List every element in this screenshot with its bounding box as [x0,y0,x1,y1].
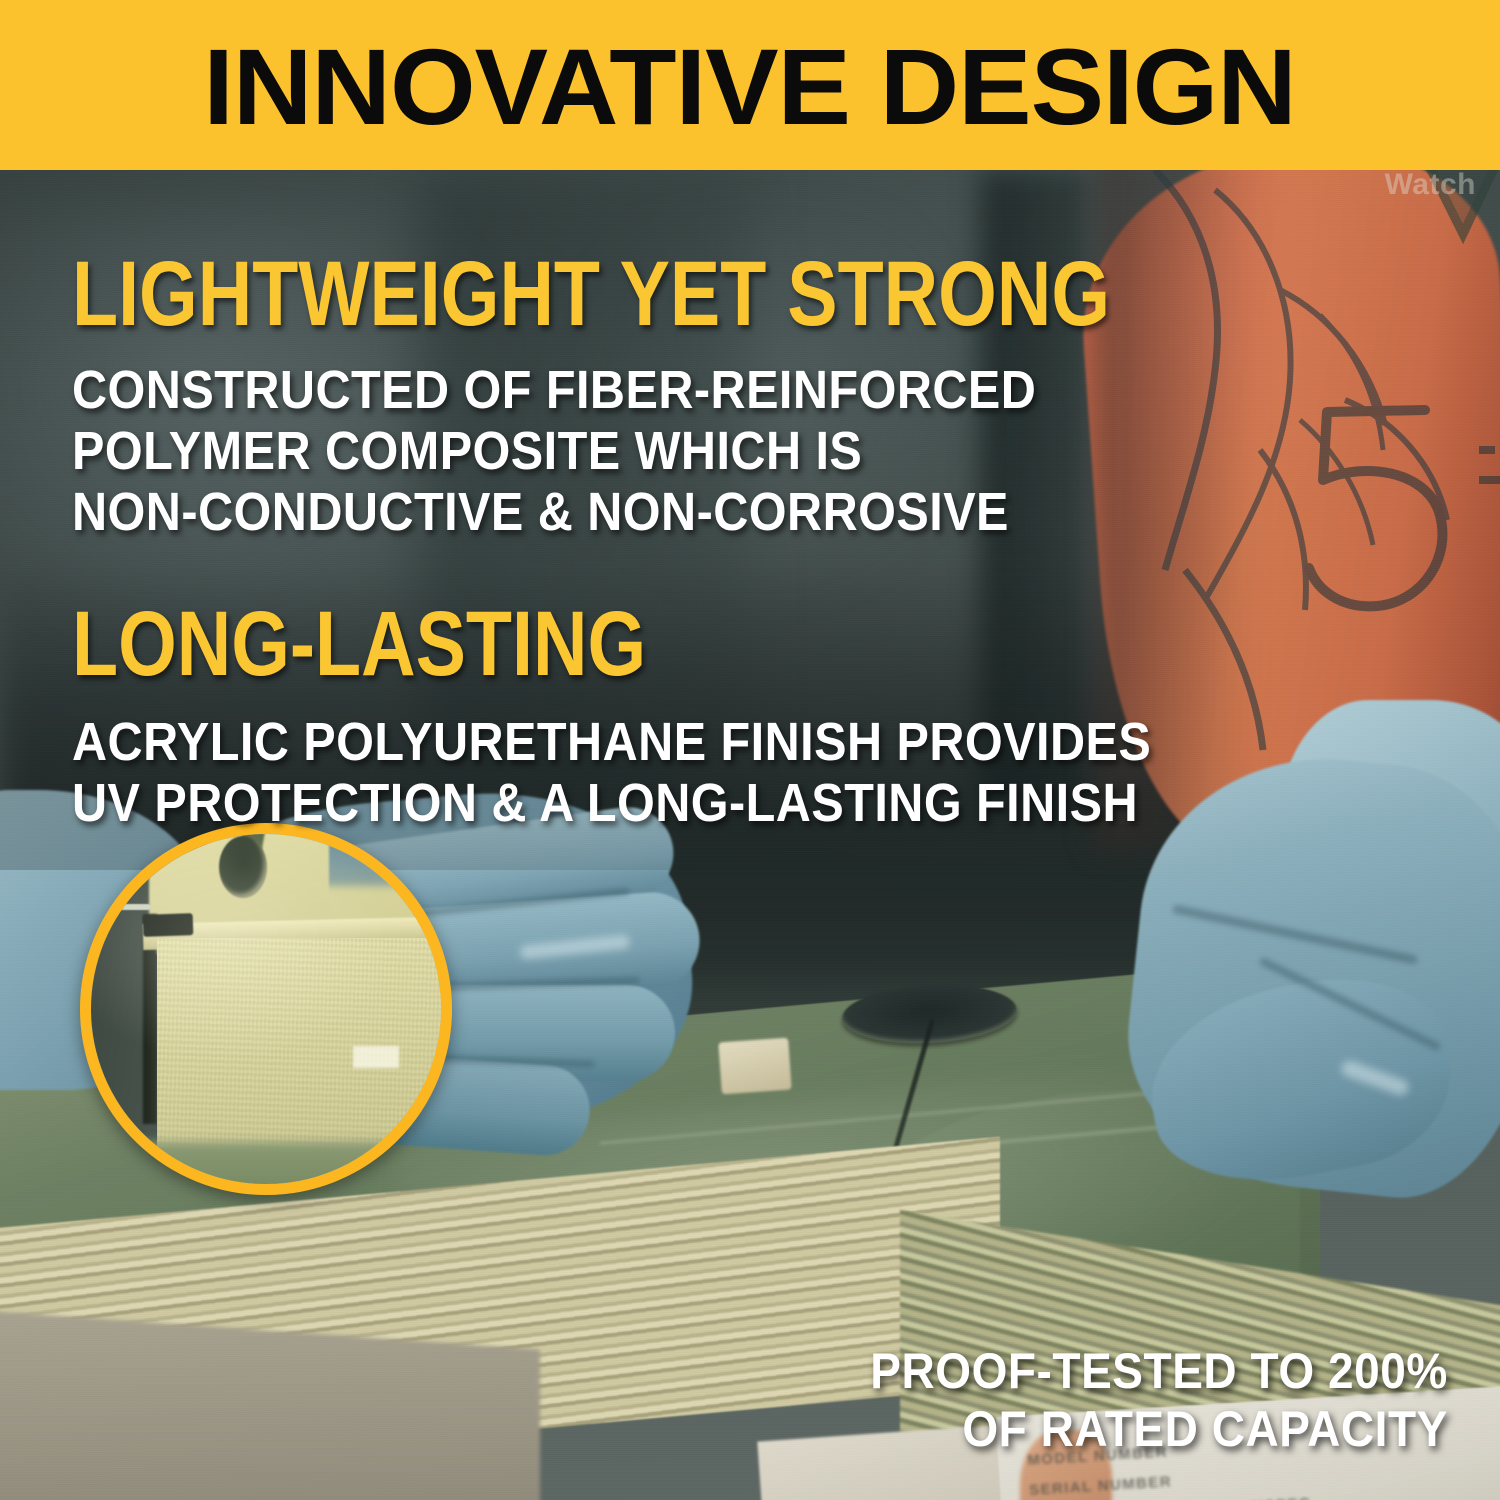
magnifier-sticker [353,1046,399,1068]
feature-body-1: CONSTRUCTED OF FIBER-REINFORCED POLYMER … [72,360,1211,543]
magnifier-rod [105,904,151,910]
feature-body-1-line-1: CONSTRUCTED OF FIBER-REINFORCED [72,360,1211,421]
feature-section-long-lasting: LONG-LASTING ACRYLIC POLYURETHANE FINISH… [72,600,1271,834]
page-title: INNOVATIVE DESIGN [204,29,1297,141]
header-band: INNOVATIVE DESIGN [0,0,1500,170]
feature-body-1-line-3: NON-CONDUCTIVE & NON-CORROSIVE [72,482,1211,543]
feature-body-2-line-1: ACRYLIC POLYURETHANE FINISH PROVIDES [72,712,1151,773]
feature-section-lightweight: LIGHTWEIGHT YET STRONG CONSTRUCTED OF FI… [72,250,1338,543]
cream-offcut-center [718,1038,791,1095]
proof-tested-line-2: OF RATED CAPACITY [870,1400,1448,1458]
feature-body-1-line-2: POLYMER COMPOSITE WHICH IS [72,421,1211,482]
infographic-canvas: MODEL NUMBER SERIAL NUMBER CHANNEL PREPA… [0,0,1500,1500]
magnifier-callout [80,823,452,1195]
feature-heading-1: LIGHTWEIGHT YET STRONG [72,250,1110,338]
proof-tested-line-1: PROOF-TESTED TO 200% [870,1342,1448,1400]
magnifier-bracket [143,913,194,937]
feature-body-2: ACRYLIC POLYURETHANE FINISH PROVIDES UV … [72,712,1151,834]
feature-heading-2: LONG-LASTING [72,600,1055,688]
magnifier-content [91,834,441,1184]
proof-tested-callout: PROOF-TESTED TO 200% OF RATED CAPACITY [820,1342,1448,1458]
magnifier-hole [219,836,267,898]
feature-body-2-line-2: UV PROTECTION & A LONG-LASTING FINISH [72,773,1151,834]
